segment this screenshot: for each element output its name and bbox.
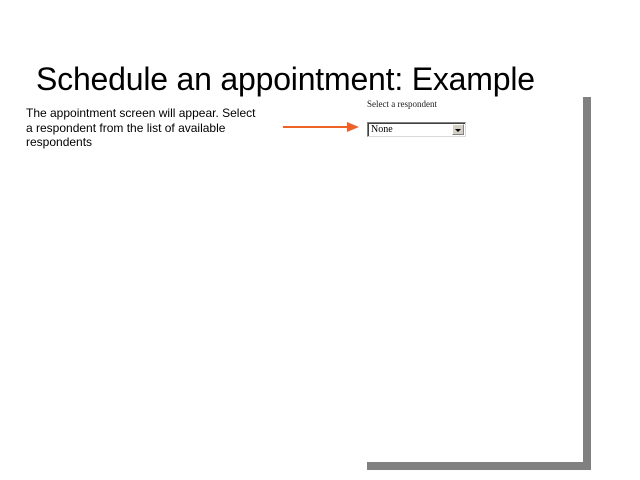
arrow-head — [347, 122, 359, 132]
slide-canvas: Schedule an appointment: Example The app… — [0, 0, 640, 480]
respondent-dropdown-value: None — [371, 124, 393, 136]
frame-shadow-bottom — [367, 462, 591, 470]
arrow-shaft — [283, 126, 349, 128]
chevron-down-glyph — [455, 129, 461, 132]
respondent-dropdown[interactable]: None — [367, 122, 466, 137]
arrow-right-icon — [283, 120, 367, 134]
respondent-field-label: Select a respondent — [367, 99, 437, 110]
body-text: The appointment screen will appear. Sele… — [26, 106, 258, 150]
frame-shadow-right — [583, 97, 591, 470]
chevron-down-icon[interactable] — [452, 124, 464, 135]
page-title: Schedule an appointment: Example — [36, 59, 616, 99]
embedded-screenshot: Select a respondent None — [367, 99, 477, 141]
